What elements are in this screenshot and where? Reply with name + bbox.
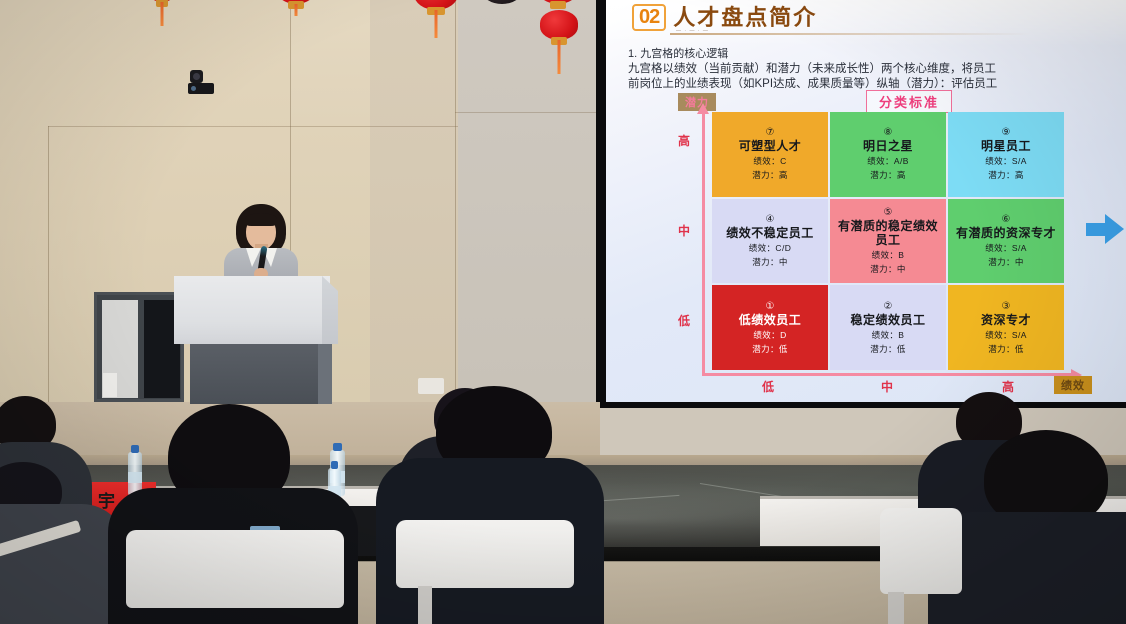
matrix-cell-potential: 潜力：高 <box>988 170 1024 181</box>
matrix-cell: ⑨明星员工绩效：S/A潜力：高 <box>948 112 1064 197</box>
slide-body-line-1: 1. 九宫格的核心逻辑 <box>628 47 1126 62</box>
matrix-cell-number: ⑨ <box>1002 127 1011 138</box>
matrix-cell-number: ⑧ <box>884 127 893 138</box>
red-lantern-icon <box>538 0 578 4</box>
camera-lens <box>193 73 200 80</box>
x-tick-low: 低 <box>762 378 774 395</box>
slide-body-text: 1. 九宫格的核心逻辑 九宫格以绩效（当前贡献）和潜力（未来成长性）两个核心维度… <box>628 47 1126 92</box>
slide-title: 人才盘点简介 <box>673 6 817 30</box>
x-tick-mid: 中 <box>881 378 893 395</box>
matrix-cell-name: 有潜质的稳定绩效员工 <box>832 219 944 247</box>
matrix-cell-potential: 潜力：低 <box>752 344 788 355</box>
matrix-grid: ⑦可塑型人才绩效：C潜力：高⑧明日之星绩效：A/B潜力：高⑨明星员工绩效：S/A… <box>712 112 1064 370</box>
matrix-cell-name: 可塑型人才 <box>739 139 802 153</box>
slide-header-subdecor: — · — · — <box>676 28 709 34</box>
y-axis-arrow <box>702 112 705 376</box>
matrix-cell-potential: 潜力：低 <box>988 344 1024 355</box>
red-lantern-icon <box>148 0 176 2</box>
right-arrow-icon <box>1086 214 1124 244</box>
slide-header-rule <box>670 33 1030 35</box>
conference-presentation-scene: 02 人才盘点简介 — · — · — 1. 九宫格的核心逻辑 九宫格以绩效（当… <box>0 0 1126 624</box>
y-tick-mid: 中 <box>678 222 690 239</box>
matrix-cell-performance: 绩效：C/D <box>749 243 792 254</box>
y-tick-high: 高 <box>678 132 690 149</box>
podium <box>174 276 330 344</box>
wall-panel-right-wood <box>370 0 458 402</box>
matrix-cell-number: ⑦ <box>766 127 775 138</box>
matrix-cell-performance: 绩效：B <box>872 250 905 261</box>
matrix-cell-number: ① <box>766 301 775 312</box>
projection-screen: 02 人才盘点简介 — · — · — 1. 九宫格的核心逻辑 九宫格以绩效（当… <box>606 0 1126 402</box>
wall-seam-vertical-3 <box>48 126 49 402</box>
matrix-cell-number: ⑥ <box>1002 214 1011 225</box>
presenter-speaker <box>222 204 300 280</box>
matrix-cell-potential: 潜力：中 <box>752 257 788 268</box>
matrix-cell-potential: 潜力：中 <box>870 264 906 275</box>
matrix-cell: ①低绩效员工绩效：D潜力：低 <box>712 285 828 370</box>
matrix-cell-performance: 绩效：S/A <box>985 156 1027 167</box>
matrix-cell-performance: 绩效：D <box>753 330 786 341</box>
classification-standard-label: 分类标准 <box>866 90 952 113</box>
matrix-cell-potential: 潜力：高 <box>752 170 788 181</box>
slide-header: 02 人才盘点简介 <box>632 4 817 31</box>
wall-camera-icon <box>188 70 218 100</box>
matrix-cell-number: ② <box>884 301 893 312</box>
matrix-cell-performance: 绩效：B <box>872 330 905 341</box>
matrix-cell-name: 稳定绩效员工 <box>850 313 925 327</box>
matrix-cell-name: 绩效不稳定员工 <box>726 226 814 240</box>
nine-box-matrix: 潜力 分类标准 高 中 低 低 中 高 绩效 ⑦可塑型人才绩效：C潜力：高⑧明日… <box>678 90 1098 395</box>
slide-body-line-2: 九宫格以绩效（当前贡献）和潜力（未来成长性）两个核心维度，将员工 <box>628 62 1126 77</box>
slide-section-number: 02 <box>632 4 666 31</box>
chair-post <box>418 586 432 624</box>
chair-post <box>888 592 904 624</box>
matrix-cell: ⑧明日之星绩效：A/B潜力：高 <box>830 112 946 197</box>
matrix-cell-potential: 潜力：中 <box>988 257 1024 268</box>
matrix-cell: ④绩效不稳定员工绩效：C/D潜力：中 <box>712 199 828 284</box>
matrix-cell: ⑦可塑型人才绩效：C潜力：高 <box>712 112 828 197</box>
podium-base <box>190 344 318 404</box>
matrix-cell-performance: 绩效：S/A <box>985 243 1027 254</box>
matrix-cell-potential: 潜力：高 <box>870 170 906 181</box>
red-lantern-icon <box>414 0 458 10</box>
attendee-person-front <box>380 386 600 624</box>
matrix-cell-name: 明日之星 <box>863 139 913 153</box>
matrix-cell-name: 资深专才 <box>981 313 1031 327</box>
red-lantern-icon <box>276 0 316 4</box>
matrix-cell: ③资深专才绩效：S/A潜力：低 <box>948 285 1064 370</box>
wall-seam-vertical-2 <box>455 0 456 402</box>
matrix-cell: ②稳定绩效员工绩效：B潜力：低 <box>830 285 946 370</box>
matrix-cell-performance: 绩效：A/B <box>867 156 909 167</box>
matrix-cell: ⑥有潜质的资深专才绩效：S/A潜力：中 <box>948 199 1064 284</box>
podium-base-side <box>318 344 332 404</box>
chair-back[interactable] <box>880 508 962 594</box>
y-tick-low: 低 <box>678 312 690 329</box>
matrix-cell-number: ⑤ <box>884 207 893 218</box>
x-axis-arrow <box>702 373 1072 376</box>
wall-seam-horizontal-1 <box>48 126 458 127</box>
matrix-cell-number: ④ <box>766 214 775 225</box>
matrix-cell: ⑤有潜质的稳定绩效员工绩效：B潜力：中 <box>830 199 946 284</box>
matrix-cell-number: ③ <box>1002 301 1011 312</box>
camera-indicator <box>191 86 196 91</box>
wall-panel-right-gray <box>455 0 600 402</box>
performance-axis-tag: 绩效 <box>1054 376 1092 394</box>
wall-vent-panel <box>94 292 184 402</box>
wall-seam-horizontal-2 <box>455 112 600 113</box>
attendee-person-front <box>940 430 1126 624</box>
matrix-cell-name: 有潜质的资深专才 <box>956 226 1056 240</box>
chair-back[interactable] <box>396 520 574 588</box>
attendee-person-front <box>0 462 116 624</box>
matrix-cell-name: 低绩效员工 <box>739 313 802 327</box>
matrix-cell-performance: 绩效：C <box>753 156 786 167</box>
red-lantern-icon <box>540 10 578 40</box>
matrix-cell-performance: 绩效：S/A <box>985 330 1027 341</box>
chair-back[interactable] <box>126 530 344 608</box>
matrix-cell-potential: 潜力：低 <box>870 344 906 355</box>
matrix-cell-name: 明星员工 <box>981 139 1031 153</box>
vent-strip <box>103 373 117 397</box>
